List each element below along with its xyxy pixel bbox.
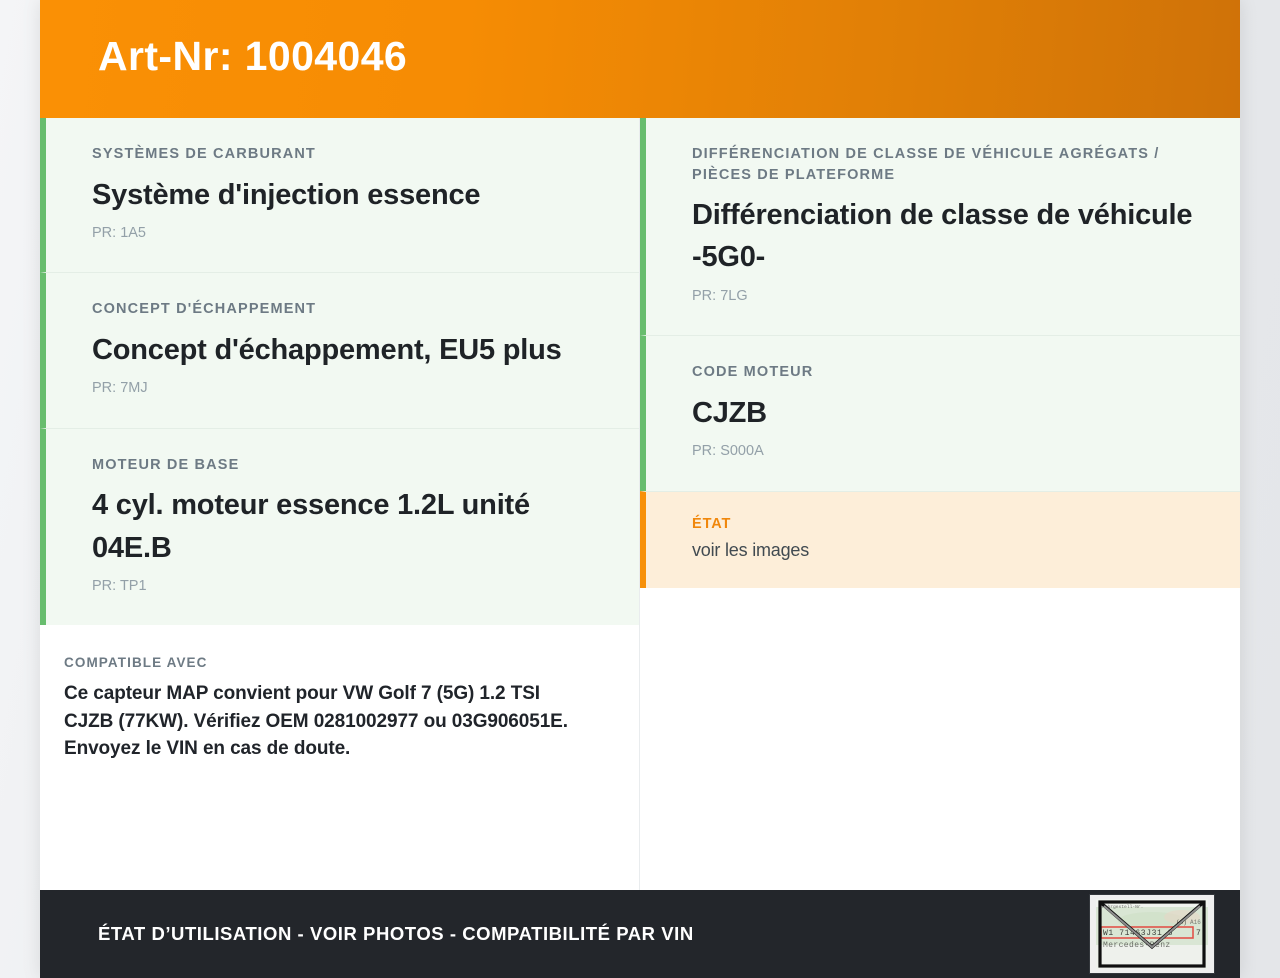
state-card-value: voir les images — [692, 539, 1196, 562]
svg-text:7: 7 — [1196, 929, 1201, 938]
spec-card-vehicle-class-differentiation[interactable]: DIFFÉRENCIATION DE CLASSE DE VÉHICULE AG… — [640, 118, 1240, 335]
vin-document-envelope-icon[interactable]: Fahrgestell-Nr. (4) A16 W1 71463J31 8 7 … — [1089, 894, 1215, 974]
spec-card-pr-code: PR: 1A5 — [92, 225, 595, 242]
svg-text:Mercedes-Benz: Mercedes-Benz — [1103, 941, 1171, 950]
spec-card-pr-code: PR: TP1 — [92, 578, 595, 595]
spec-card-engine-code[interactable]: CODE MOTEUR CJZB PR: S000A — [640, 335, 1240, 490]
spec-card-label: SYSTÈMES DE CARBURANT — [92, 144, 595, 165]
header-bar: Art-Nr: 1004046 — [40, 0, 1240, 118]
spec-card-pr-code: PR: 7MJ — [92, 380, 595, 397]
state-card-label: ÉTAT — [692, 514, 1196, 535]
spec-card-value: 4 cyl. moteur essence 1.2L unité 04E.B — [92, 484, 595, 569]
right-column: DIFFÉRENCIATION DE CLASSE DE VÉHICULE AG… — [640, 118, 1240, 890]
spec-card-base-engine[interactable]: MOTEUR DE BASE 4 cyl. moteur essence 1.2… — [40, 428, 639, 626]
spec-card-label: DIFFÉRENCIATION DE CLASSE DE VÉHICULE AG… — [692, 144, 1196, 185]
right-column-filler — [640, 588, 1240, 890]
spec-columns: SYSTÈMES DE CARBURANT Système d'injectio… — [40, 118, 1240, 890]
spec-card-fuel-system[interactable]: SYSTÈMES DE CARBURANT Système d'injectio… — [40, 118, 639, 272]
spec-card-value: Concept d'échappement, EU5 plus — [92, 329, 595, 371]
spec-card-label: CODE MOTEUR — [692, 362, 1196, 383]
compatibility-label: COMPATIBLE AVEC — [64, 655, 583, 670]
footer-bar: ÉTAT D’UTILISATION - VOIR PHOTOS - COMPA… — [40, 890, 1240, 978]
svg-text:A16: A16 — [1190, 919, 1201, 926]
compatibility-block: COMPATIBLE AVEC Ce capteur MAP convient … — [40, 625, 639, 789]
spec-card-label: CONCEPT D'ÉCHAPPEMENT — [92, 299, 595, 320]
spec-card-value: Système d'injection essence — [92, 174, 595, 216]
spec-card-pr-code: PR: 7LG — [692, 288, 1196, 305]
state-card[interactable]: ÉTAT voir les images — [640, 491, 1240, 589]
product-spec-sheet: Art-Nr: 1004046 SYSTÈMES DE CARBURANT Sy… — [40, 0, 1240, 978]
footer-notice-text: ÉTAT D’UTILISATION - VOIR PHOTOS - COMPA… — [98, 923, 694, 945]
article-number-title: Art-Nr: 1004046 — [98, 36, 407, 77]
compatibility-text: Ce capteur MAP convient pour VW Golf 7 (… — [64, 680, 583, 763]
spec-card-exhaust-concept[interactable]: CONCEPT D'ÉCHAPPEMENT Concept d'échappem… — [40, 272, 639, 427]
spec-card-pr-code: PR: S000A — [692, 443, 1196, 460]
spec-card-label: MOTEUR DE BASE — [92, 455, 595, 476]
spec-card-value: Différenciation de classe de véhicule -5… — [692, 194, 1196, 279]
left-column: SYSTÈMES DE CARBURANT Système d'injectio… — [40, 118, 640, 890]
left-column-filler — [40, 789, 639, 890]
spec-card-value: CJZB — [692, 392, 1196, 434]
